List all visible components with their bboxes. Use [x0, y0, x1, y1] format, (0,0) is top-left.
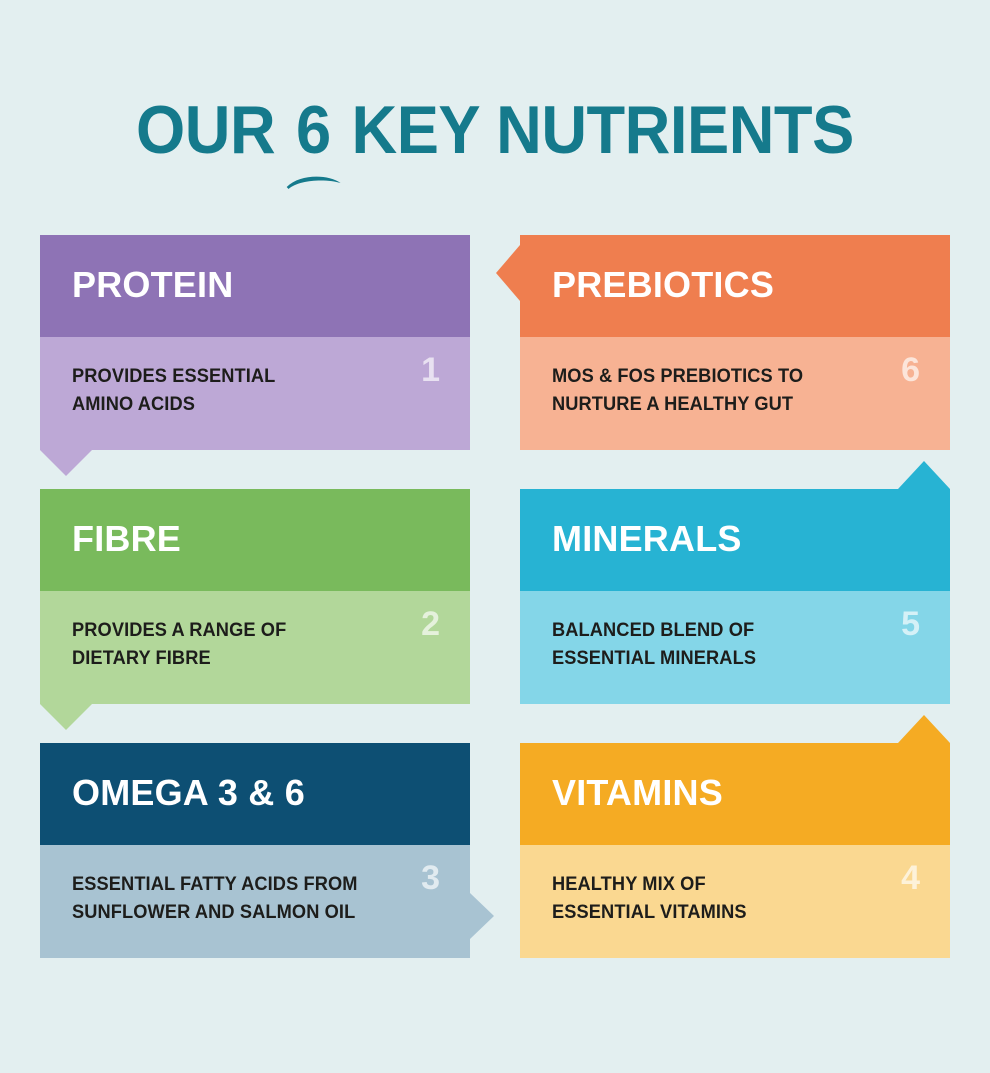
card-protein[interactable]: PROTEIN PROVIDES ESSENTIAL AMINO ACIDS 1 — [40, 235, 470, 450]
title-number-text: 6 — [296, 92, 331, 168]
card-prebiotics[interactable]: PREBIOTICS MOS & FOS PREBIOTICS TO NURTU… — [520, 235, 950, 450]
title-highlight-number: 6 — [292, 96, 334, 164]
card-omega-number: 3 — [421, 861, 440, 895]
card-fibre-header: FIBRE — [40, 489, 470, 591]
nutrients-infographic: OUR 6 KEY NUTRIENTS PROTEIN PROVIDES ESS… — [0, 0, 990, 1073]
card-protein-body: PROVIDES ESSENTIAL AMINO ACIDS 1 — [40, 337, 470, 450]
card-omega[interactable]: OMEGA 3 & 6 ESSENTIAL FATTY ACIDS FROM S… — [40, 743, 470, 958]
card-minerals-description: BALANCED BLEND OF ESSENTIAL MINERALS — [552, 617, 867, 672]
card-fibre-number: 2 — [421, 607, 440, 641]
card-prebiotics-description: MOS & FOS PREBIOTICS TO NURTURE A HEALTH… — [552, 363, 867, 418]
card-vitamins-heading: VITAMINS — [552, 775, 723, 811]
card-fibre-heading: FIBRE — [72, 521, 181, 557]
card-prebiotics-header: PREBIOTICS — [520, 235, 950, 337]
card-fibre-description: PROVIDES A RANGE OF DIETARY FIBRE — [72, 617, 387, 672]
arrow-up-icon — [898, 461, 950, 489]
card-protein-description: PROVIDES ESSENTIAL AMINO ACIDS — [72, 363, 387, 418]
card-protein-number: 1 — [421, 353, 440, 387]
card-protein-header: PROTEIN — [40, 235, 470, 337]
card-minerals-number: 5 — [901, 607, 920, 641]
card-omega-description: ESSENTIAL FATTY ACIDS FROM SUNFLOWER AND… — [72, 871, 387, 926]
card-minerals-body: BALANCED BLEND OF ESSENTIAL MINERALS 5 — [520, 591, 950, 704]
card-omega-header: OMEGA 3 & 6 — [40, 743, 470, 845]
arrow-right-icon — [470, 893, 494, 939]
card-fibre-body: PROVIDES A RANGE OF DIETARY FIBRE 2 — [40, 591, 470, 704]
arrow-down-icon — [40, 450, 92, 476]
card-prebiotics-body: MOS & FOS PREBIOTICS TO NURTURE A HEALTH… — [520, 337, 950, 450]
card-protein-heading: PROTEIN — [72, 267, 233, 303]
card-minerals[interactable]: MINERALS BALANCED BLEND OF ESSENTIAL MIN… — [520, 489, 950, 704]
title-block: OUR 6 KEY NUTRIENTS — [0, 96, 990, 164]
card-vitamins[interactable]: VITAMINS HEALTHY MIX OF ESSENTIAL VITAMI… — [520, 743, 950, 958]
card-minerals-header: MINERALS — [520, 489, 950, 591]
arrow-down-icon — [40, 704, 92, 730]
card-prebiotics-number: 6 — [901, 353, 920, 387]
page-title: OUR 6 KEY NUTRIENTS — [136, 96, 854, 164]
card-vitamins-description: HEALTHY MIX OF ESSENTIAL VITAMINS — [552, 871, 867, 926]
card-minerals-heading: MINERALS — [552, 521, 742, 557]
card-vitamins-body: HEALTHY MIX OF ESSENTIAL VITAMINS 4 — [520, 845, 950, 958]
card-vitamins-number: 4 — [901, 861, 920, 895]
arrow-up-icon — [898, 715, 950, 743]
arrow-left-icon — [496, 245, 520, 301]
card-omega-body: ESSENTIAL FATTY ACIDS FROM SUNFLOWER AND… — [40, 845, 470, 958]
swoosh-underline-icon — [285, 170, 343, 190]
card-prebiotics-heading: PREBIOTICS — [552, 267, 774, 303]
card-fibre[interactable]: FIBRE PROVIDES A RANGE OF DIETARY FIBRE … — [40, 489, 470, 704]
title-suffix: KEY NUTRIENTS — [335, 92, 854, 168]
card-omega-heading: OMEGA 3 & 6 — [72, 775, 305, 811]
title-prefix: OUR — [136, 92, 292, 168]
card-vitamins-header: VITAMINS — [520, 743, 950, 845]
